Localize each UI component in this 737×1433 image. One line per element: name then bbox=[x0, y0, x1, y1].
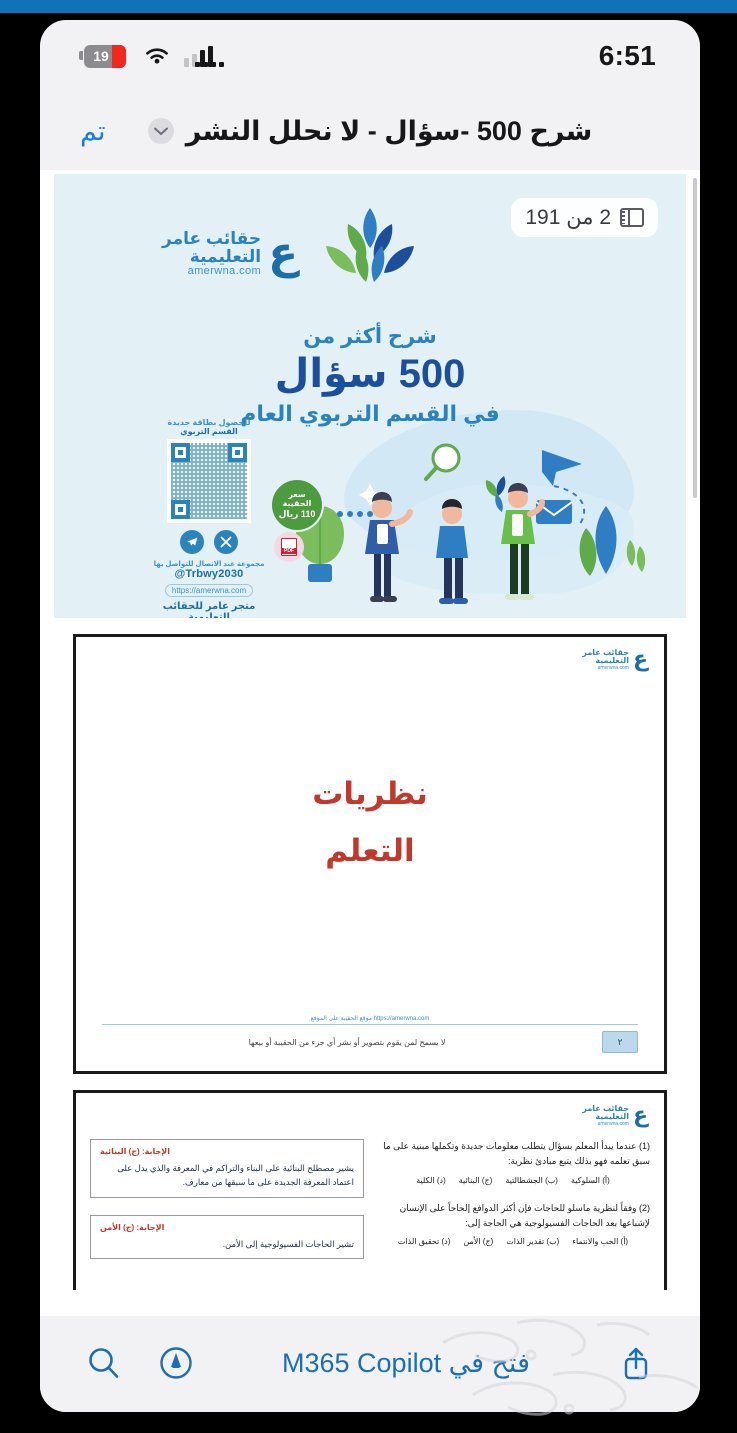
brand-mark-icon: ع bbox=[633, 650, 648, 670]
answer-box: الإجابة: (ج) الأمن تشير الحاجات الفسيولو… bbox=[90, 1215, 364, 1259]
markup-pen-icon[interactable] bbox=[150, 1337, 202, 1389]
footer-divider bbox=[102, 1024, 638, 1025]
answers-column: الإجابة: (ج) البنائية يشير مصطلح البنائي… bbox=[90, 1139, 364, 1290]
done-button[interactable]: تم bbox=[80, 116, 105, 147]
question-item: (1) عندما يبدأ المعلم بسؤال يتطلب معلوما… bbox=[376, 1139, 650, 1185]
document-page-2: ع حقائب عامر التعليمية amerwna.com نظريا… bbox=[73, 634, 667, 1074]
slide-footer: موقع الحقيبة على الموقع https://amerwna.… bbox=[102, 1015, 638, 1053]
brand-mark-icon: ع bbox=[268, 234, 298, 274]
telegram-icon bbox=[180, 530, 204, 554]
price-line-2: الحقيبة bbox=[283, 500, 312, 509]
share-icon[interactable] bbox=[610, 1337, 662, 1389]
brand-website: amerwna.com bbox=[582, 666, 629, 671]
chevron-down-icon[interactable] bbox=[148, 118, 174, 144]
x-twitter-icon bbox=[214, 530, 238, 554]
question-text: (2) وفقاً لنظرية ماسلو للحاجات فإن أكثر … bbox=[376, 1201, 650, 1231]
question-option: (أ) السلوكية bbox=[571, 1176, 610, 1185]
screenshot-root: 19 6:51 تم bbox=[0, 0, 737, 1433]
phone-screen: 19 6:51 تم bbox=[40, 20, 700, 1412]
slide-page-number: ٢ bbox=[602, 1031, 638, 1053]
battery-icon: 19 bbox=[84, 44, 130, 68]
qr-code bbox=[167, 439, 251, 523]
page-indicator-label: 2 من 191 bbox=[525, 205, 611, 230]
page-brand-logo: ع حقائب عامر التعليمية amerwna.com bbox=[582, 1105, 648, 1127]
question-option: (ج) الأمن bbox=[463, 1237, 493, 1246]
vertical-scrollbar[interactable] bbox=[693, 178, 697, 498]
question-item: (2) وفقاً لنظرية ماسلو للحاجات فإن أكثر … bbox=[376, 1201, 650, 1247]
top-blue-strip bbox=[0, 0, 737, 13]
questions-column: (1) عندما يبدأ المعلم بسؤال يتطلب معلوما… bbox=[376, 1139, 650, 1290]
question-text: (1) عندما يبدأ المعلم بسؤال يتطلب معلوما… bbox=[376, 1139, 650, 1169]
answer-box: الإجابة: (ج) البنائية يشير مصطلح البنائي… bbox=[90, 1139, 364, 1198]
answer-label: الإجابة: (ج) البنائية bbox=[100, 1147, 354, 1156]
home-indicator-area bbox=[40, 1410, 700, 1412]
question-option: (ج) البنائية bbox=[459, 1176, 493, 1185]
slide-title-line-2: التعلم bbox=[76, 822, 664, 879]
price-badge: سعر الحقيبة 110 ريال bbox=[270, 478, 324, 532]
cover-heading-small: شرح أكثر من bbox=[54, 324, 686, 349]
answer-explanation: يشير مصطلح البنائية على البناء والتراكم … bbox=[100, 1161, 354, 1190]
question-option: (ب) تقدير الذات bbox=[506, 1237, 559, 1246]
brand-line-1: حقائب عامر bbox=[162, 230, 261, 248]
brand-website: amerwna.com bbox=[162, 266, 261, 278]
status-bar: 19 6:51 bbox=[40, 20, 700, 92]
wifi-icon bbox=[143, 45, 171, 67]
cover-heading-big: 500 سؤال bbox=[54, 351, 686, 397]
battery-level-label: 19 bbox=[93, 48, 117, 64]
footer-link: موقع الحقيبة على الموقع https://amerwna.… bbox=[102, 1015, 638, 1022]
brand-website: amerwna.com bbox=[582, 1122, 629, 1127]
brand-line-2: التعليمية bbox=[162, 248, 261, 266]
answer-explanation: تشير الحاجات الفسيولوجية إلى الأمن. bbox=[100, 1237, 354, 1251]
document-title: شرح 500 -سؤال - لا نحلل النشر bbox=[186, 116, 593, 147]
question-option: (ب) الجشطالتية bbox=[505, 1176, 558, 1185]
slide-title-line-1: نظريات bbox=[76, 765, 664, 822]
footer-copyright-note: لا يسمح لمن يقوم بتصوير أو نشر أي جزء من… bbox=[102, 1038, 592, 1047]
question-option: (أ) الحب والانتماء bbox=[572, 1237, 628, 1246]
pages-icon bbox=[620, 208, 644, 227]
document-scroll-area[interactable]: 2 من 191 ع حقائب عامر التعليمية amerwna.… bbox=[40, 170, 700, 1316]
nav-bar: تم شرح 500 -سؤال - لا نحلل النشر bbox=[40, 92, 700, 170]
pdf-file-icon: PDF bbox=[274, 532, 304, 562]
brand-mark-icon: ع bbox=[633, 1106, 648, 1126]
cellular-signal-icon bbox=[184, 45, 224, 67]
question-option: (د) الكلية bbox=[416, 1176, 446, 1185]
qr-url: https://amerwna.com bbox=[165, 584, 253, 597]
page-brand-logo: ع حقائب عامر التعليمية amerwna.com bbox=[582, 649, 648, 671]
question-option: (د) تحقيق الذات bbox=[398, 1237, 450, 1246]
search-icon[interactable] bbox=[78, 1337, 130, 1389]
document-page-cover: 2 من 191 ع حقائب عامر التعليمية amerwna.… bbox=[54, 174, 686, 618]
cover-brand-logo: ع حقائب عامر التعليمية amerwna.com bbox=[162, 230, 298, 277]
page-indicator-badge: 2 من 191 bbox=[511, 198, 658, 237]
bottom-toolbar: فتح في M365 Copilot bbox=[40, 1316, 700, 1410]
slide-title: نظريات التعلم bbox=[76, 765, 664, 880]
status-bar-clock: 6:51 bbox=[599, 40, 656, 72]
price-line-3: 110 ريال bbox=[279, 509, 316, 519]
open-in-copilot-link[interactable]: فتح في M365 Copilot bbox=[202, 1348, 610, 1379]
document-page-3: ع حقائب عامر التعليمية amerwna.com (1) ع… bbox=[73, 1090, 667, 1290]
answer-label: الإجابة: (ج) الأمن bbox=[100, 1223, 354, 1232]
